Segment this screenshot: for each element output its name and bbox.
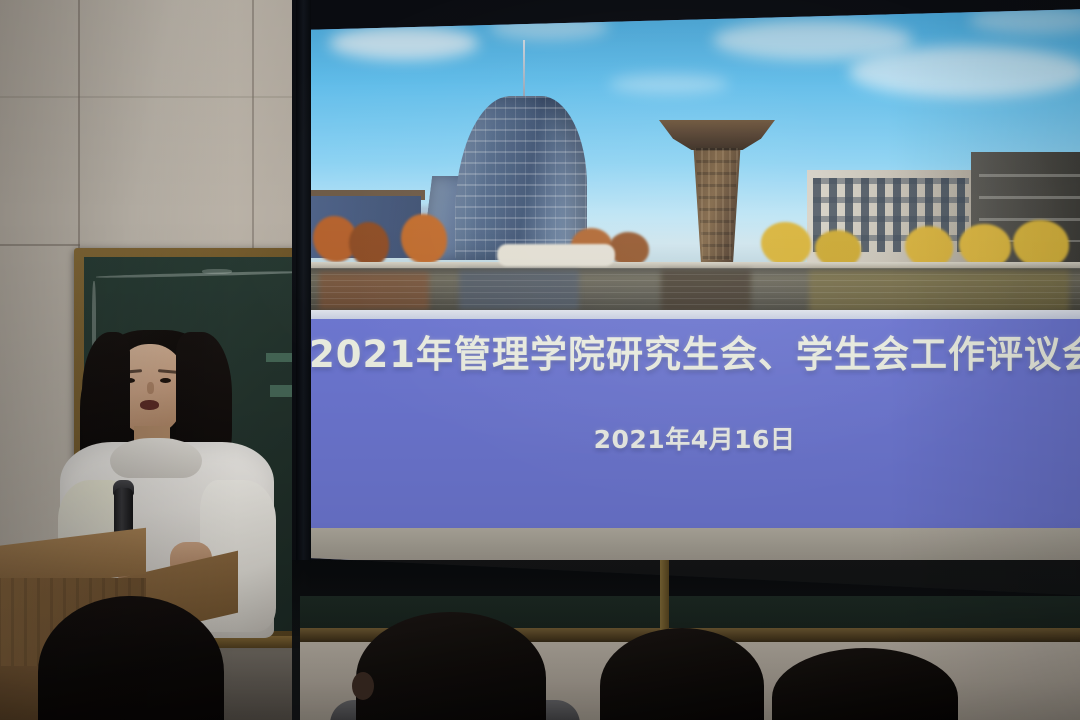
slide-date: 2021年4月16日 — [309, 420, 1080, 456]
campus-panorama-photo — [309, 0, 1080, 312]
screen-frame-post — [296, 0, 311, 618]
chalk-mark — [202, 269, 232, 274]
audience-ear-center — [352, 672, 374, 700]
bronze-ding-sculpture — [659, 108, 775, 266]
hood-collar — [110, 438, 202, 478]
wall-seam — [78, 0, 80, 248]
fountain-sculpture — [497, 244, 615, 266]
flag-mast — [523, 40, 525, 102]
wall-seam — [0, 244, 80, 246]
presentation-photo-scene: 2021年管理学院研究生会、学生会工作评议会 2021年4月16日 — [0, 0, 1080, 720]
wall-seam — [0, 96, 330, 98]
reflecting-pool — [309, 268, 1080, 312]
curved-glass-tower — [455, 96, 587, 260]
mouth — [140, 400, 159, 410]
slide-title: 2021年管理学院研究生会、学生会工作评议会 — [309, 336, 1080, 373]
slide-divider-band — [309, 310, 1080, 319]
projection-screen: 2021年管理学院研究生会、学生会工作评议会 2021年4月16日 — [309, 0, 1080, 620]
wall-seam — [252, 0, 254, 250]
title-slide: 2021年管理学院研究生会、学生会工作评议会 2021年4月16日 — [309, 0, 1080, 620]
chalk-mark — [96, 270, 306, 278]
